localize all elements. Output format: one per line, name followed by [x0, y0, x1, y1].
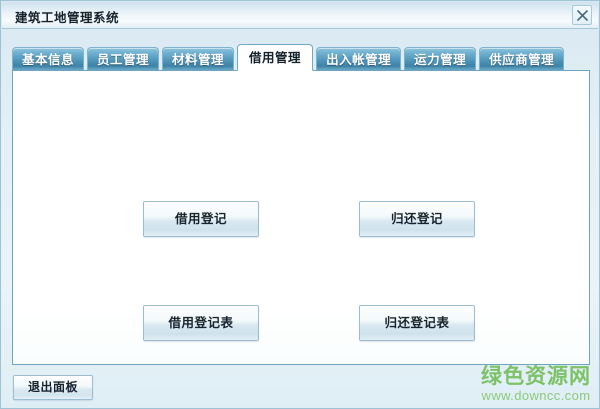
- window-title: 建筑工地管理系统: [15, 7, 119, 26]
- tab-strip: 基本信息 员工管理 材料管理 借用管理 出入帐管理 运力管理 供应商管理: [12, 44, 590, 71]
- close-icon[interactable]: [572, 5, 592, 25]
- tab-transport-mgmt[interactable]: 运力管理: [404, 47, 476, 71]
- watermark-url: www.downcc.com: [481, 388, 591, 404]
- return-register-table-button[interactable]: 归还登记表: [359, 305, 475, 341]
- return-register-button[interactable]: 归还登记: [359, 201, 475, 237]
- tab-borrow-mgmt[interactable]: 借用管理: [237, 44, 313, 71]
- watermark-title: 绿色资源网: [481, 365, 591, 388]
- application-window: 建筑工地管理系统 基本信息 员工管理 材料管理 借用管理 出入帐管理 运力管理 …: [0, 0, 600, 409]
- tab-supplier-mgmt[interactable]: 供应商管理: [479, 47, 564, 71]
- exit-panel-button[interactable]: 退出面板: [13, 375, 93, 400]
- tab-basic-info[interactable]: 基本信息: [12, 47, 84, 71]
- borrow-register-button[interactable]: 借用登记: [143, 201, 259, 237]
- tab-employee-mgmt[interactable]: 员工管理: [87, 47, 159, 71]
- tab-material-mgmt[interactable]: 材料管理: [162, 47, 234, 71]
- tab-account-mgmt[interactable]: 出入帐管理: [316, 47, 401, 71]
- content-panel: 借用登记 归还登记 借用登记表 归还登记表: [12, 70, 590, 365]
- watermark: 绿色资源网 www.downcc.com: [481, 365, 591, 404]
- title-bar: 建筑工地管理系统: [2, 2, 598, 29]
- borrow-register-table-button[interactable]: 借用登记表: [143, 305, 259, 341]
